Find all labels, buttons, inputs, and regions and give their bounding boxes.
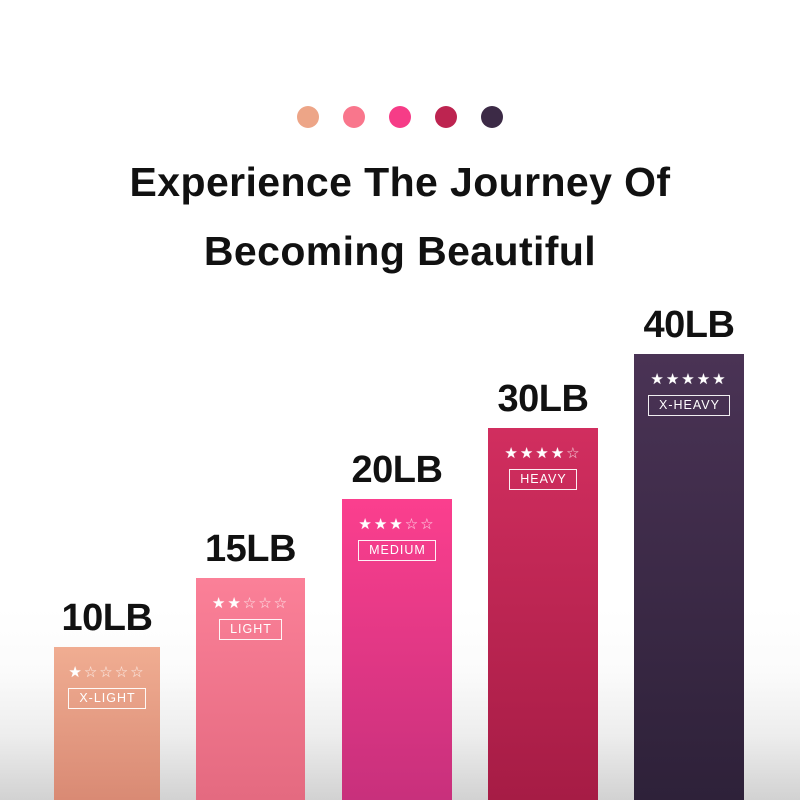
star-filled-icon: ★ [389,516,404,533]
bar-group-x-heavy[interactable]: 40LB★★★★★X-HEAVY [634,354,744,800]
bar-weight-label: 30LB [498,378,589,421]
star-empty-icon: ☆ [115,664,130,681]
bar-group-light[interactable]: 15LB★★☆☆☆LIGHT [196,578,305,800]
bar-weight-label: 40LB [644,304,735,347]
star-filled-icon: ★ [504,445,519,462]
star-empty-icon: ☆ [274,595,289,612]
star-rating-icon: ★★★★☆ [504,446,581,462]
level-badge: MEDIUM [358,540,436,561]
level-badge: HEAVY [509,469,576,490]
star-filled-icon: ★ [697,371,712,388]
star-filled-icon: ★ [535,445,550,462]
level-badge: X-HEAVY [648,395,730,416]
star-rating-icon: ★★☆☆☆ [212,596,289,612]
star-rating-icon: ★★★★★ [650,372,727,388]
star-filled-icon: ★ [666,371,681,388]
star-empty-icon: ☆ [84,664,99,681]
star-empty-icon: ☆ [258,595,273,612]
star-empty-icon: ☆ [130,664,145,681]
star-empty-icon: ☆ [243,595,258,612]
bar-rect[interactable]: ★★☆☆☆LIGHT [196,578,305,800]
bar-weight-label: 15LB [205,528,296,571]
star-filled-icon: ★ [227,595,242,612]
star-filled-icon: ★ [650,371,665,388]
star-filled-icon: ★ [681,371,696,388]
star-filled-icon: ★ [551,445,566,462]
star-filled-icon: ★ [68,664,83,681]
product-infographic-poster: Experience The Journey Of Becoming Beaut… [0,0,800,800]
bar-rect[interactable]: ★★★☆☆MEDIUM [342,499,452,800]
bar-rect[interactable]: ★☆☆☆☆X-LIGHT [54,647,160,800]
star-empty-icon: ☆ [405,516,420,533]
star-empty-icon: ☆ [99,664,114,681]
star-filled-icon: ★ [374,516,389,533]
bar-group-x-light[interactable]: 10LB★☆☆☆☆X-LIGHT [54,647,160,800]
level-badge: LIGHT [219,619,282,640]
star-rating-icon: ★★★☆☆ [358,517,435,533]
star-empty-icon: ☆ [420,516,435,533]
star-empty-icon: ☆ [566,445,581,462]
bar-rect[interactable]: ★★★★☆HEAVY [488,428,598,800]
bar-group-medium[interactable]: 20LB★★★☆☆MEDIUM [342,499,452,800]
star-filled-icon: ★ [212,595,227,612]
star-filled-icon: ★ [712,371,727,388]
star-rating-icon: ★☆☆☆☆ [68,665,145,681]
resistance-level-bar-chart: 10LB★☆☆☆☆X-LIGHT15LB★★☆☆☆LIGHT20LB★★★☆☆M… [0,0,800,800]
bar-weight-label: 10LB [62,597,153,640]
bar-group-heavy[interactable]: 30LB★★★★☆HEAVY [488,428,598,800]
bar-weight-label: 20LB [352,449,443,492]
level-badge: X-LIGHT [68,688,145,709]
star-filled-icon: ★ [520,445,535,462]
star-filled-icon: ★ [358,516,373,533]
bar-rect[interactable]: ★★★★★X-HEAVY [634,354,744,800]
